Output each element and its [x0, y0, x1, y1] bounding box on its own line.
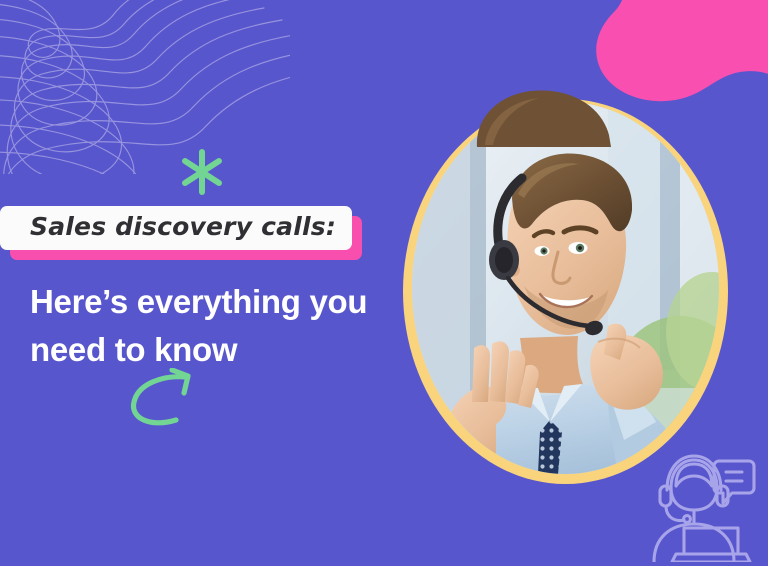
page-title: Here’s everything you need to know — [30, 278, 400, 376]
pink-blob-decoration — [584, 0, 768, 114]
hero-photo — [412, 102, 719, 474]
headline-block: Sales discovery calls: Here’s everything… — [0, 206, 420, 375]
eyebrow-badge: Sales discovery calls: — [0, 206, 352, 250]
blog-banner: Sales discovery calls: Here’s everything… — [0, 0, 768, 566]
hero-photo-frame — [403, 99, 728, 484]
eyebrow-white-box: Sales discovery calls: — [0, 206, 352, 250]
eyebrow-text: Sales discovery calls: — [30, 212, 336, 241]
support-agent-icon — [648, 450, 758, 562]
wave-pattern-decoration — [0, 0, 290, 174]
curved-arrow-icon — [128, 368, 206, 430]
sparkle-asterisk-icon — [176, 146, 228, 198]
